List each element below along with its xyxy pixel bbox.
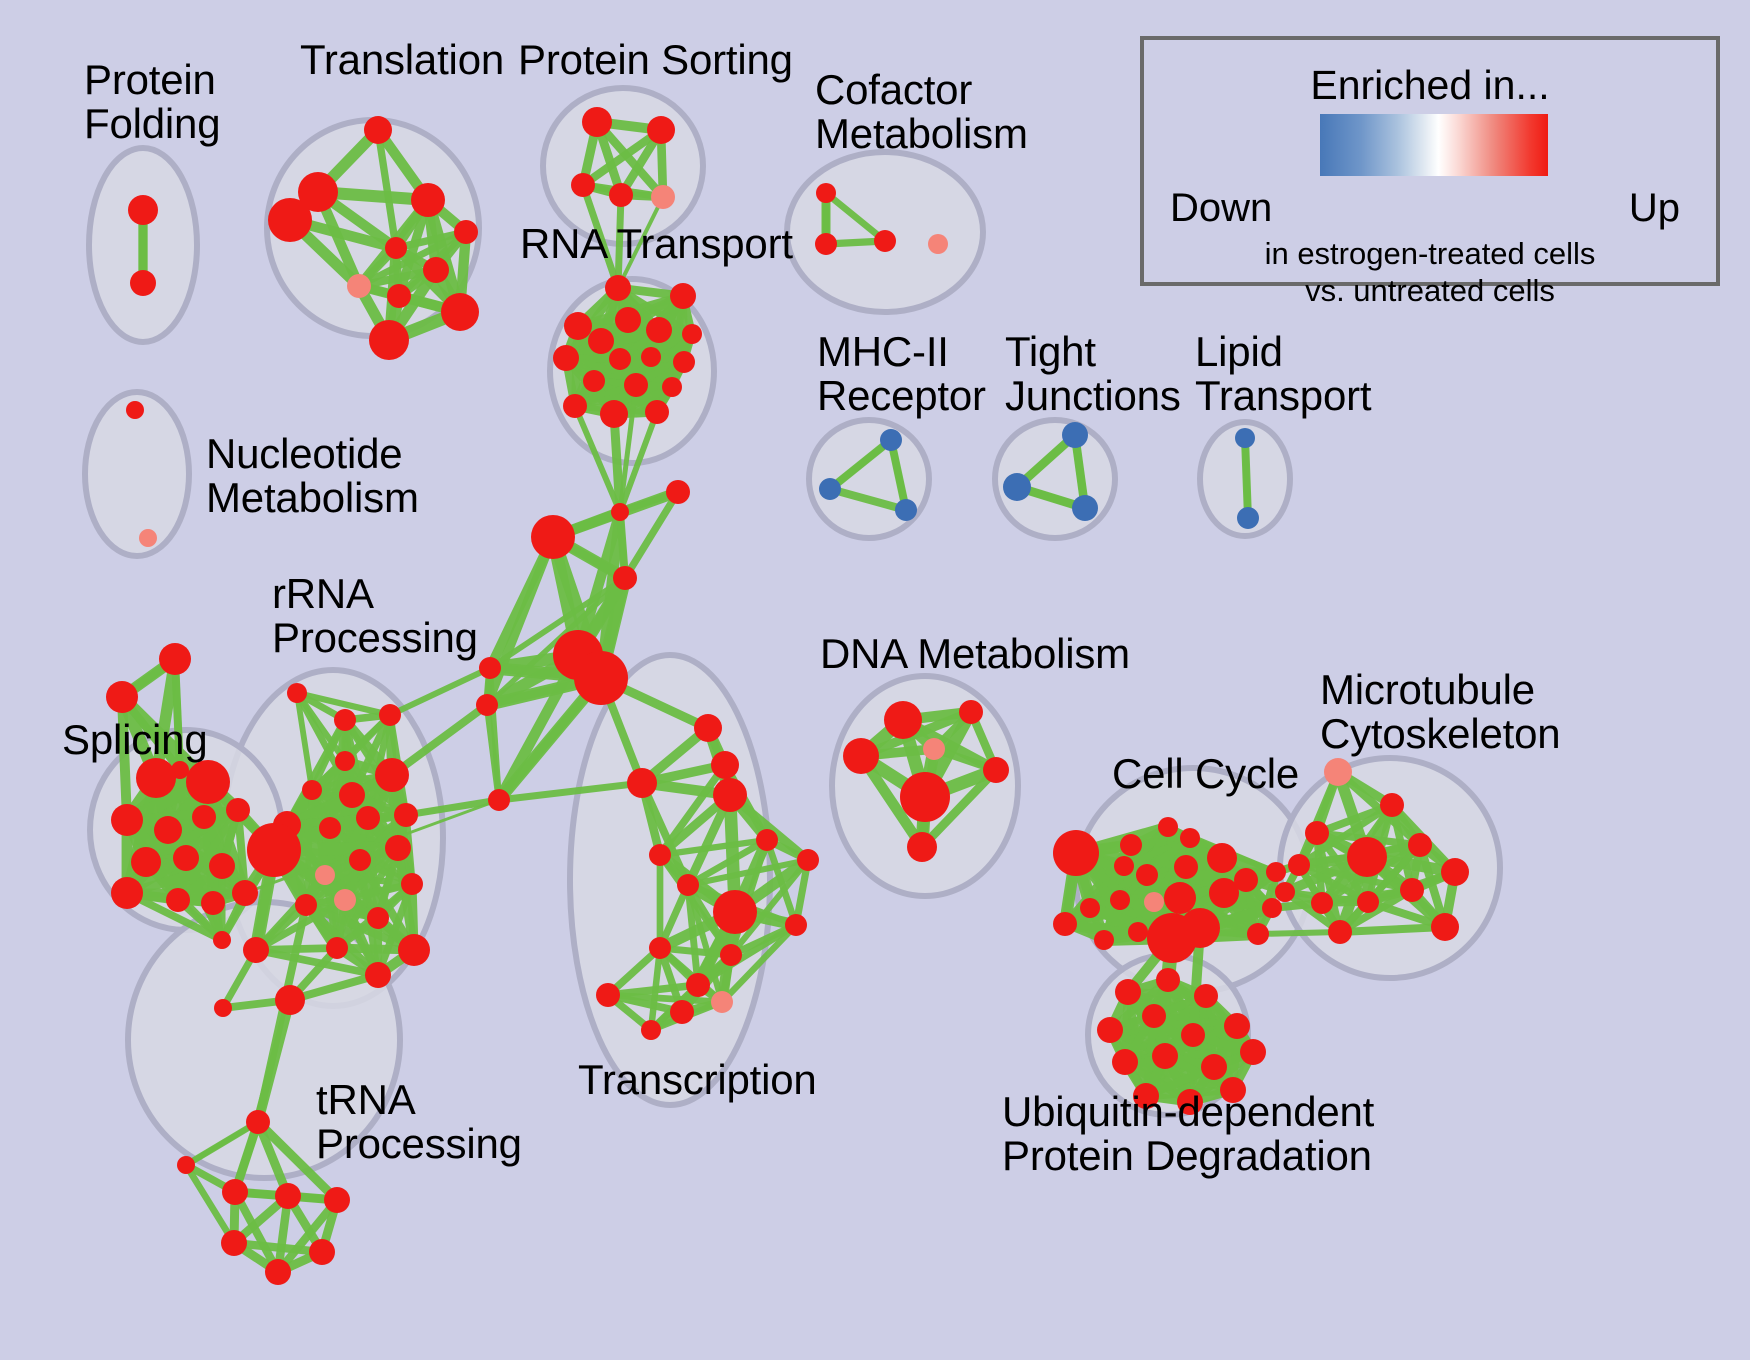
network-node-protein-sorting[interactable]: [571, 173, 595, 197]
legend-up-label: Up: [1629, 186, 1680, 231]
network-node-splicing[interactable]: [111, 804, 143, 836]
network-node-splicing[interactable]: [213, 931, 231, 949]
network-node-protein-sorting[interactable]: [609, 183, 633, 207]
network-node-cell-cycle[interactable]: [1136, 864, 1158, 886]
network-node-rna-transport[interactable]: [662, 377, 682, 397]
cluster-label-protein-folding: Protein Folding: [84, 58, 220, 145]
network-node-mhc-ii-receptor[interactable]: [880, 429, 902, 451]
network-node-mhc-ii-receptor[interactable]: [895, 499, 917, 521]
network-node-cell-cycle[interactable]: [1110, 890, 1130, 910]
network-node-rrna-processing[interactable]: [375, 758, 409, 792]
network-node-ubiquitin-protein-degradation[interactable]: [1156, 968, 1180, 992]
cluster-ellipse-transcription[interactable]: [570, 655, 770, 1105]
network-edge: [1258, 932, 1340, 934]
network-node-bridge[interactable]: [611, 503, 629, 521]
legend-subtitle: in estrogen-treated cells vs. untreated …: [1144, 236, 1716, 309]
cluster-label-dna-metabolism: DNA Metabolism: [820, 632, 1130, 676]
network-node-protein-sorting[interactable]: [651, 185, 675, 209]
network-node-trna-processing[interactable]: [309, 1239, 335, 1265]
network-node-microtubule-cytoskeleton[interactable]: [1380, 793, 1404, 817]
network-node-rrna-processing[interactable]: [349, 849, 371, 871]
network-node-rrna-processing[interactable]: [243, 937, 269, 963]
network-node-protein-sorting[interactable]: [582, 107, 612, 137]
network-node-splicing[interactable]: [201, 891, 225, 915]
network-node-cell-cycle[interactable]: [1174, 855, 1198, 879]
network-node-splicing[interactable]: [154, 816, 182, 844]
network-node-transcription[interactable]: [627, 768, 657, 798]
network-node-rrna-processing[interactable]: [356, 806, 380, 830]
network-node-bridge[interactable]: [574, 651, 628, 705]
network-node-mhc-ii-receptor[interactable]: [819, 478, 841, 500]
network-node-nucleotide-metabolism[interactable]: [126, 401, 144, 419]
network-node-splicing[interactable]: [159, 643, 191, 675]
network-node-trna-processing[interactable]: [221, 1230, 247, 1256]
legend-title: Enriched in...: [1144, 62, 1716, 109]
network-node-microtubule-cytoskeleton[interactable]: [1347, 837, 1387, 877]
network-edge: [1245, 438, 1248, 518]
cluster-label-protein-sorting: Protein Sorting: [518, 38, 793, 82]
network-node-tight-junctions[interactable]: [1003, 473, 1031, 501]
network-node-transcription[interactable]: [713, 890, 757, 934]
network-node-transcription[interactable]: [713, 778, 747, 812]
network-node-microtubule-cytoskeleton[interactable]: [1305, 821, 1329, 845]
network-node-rna-transport[interactable]: [609, 348, 631, 370]
cluster-label-rrna-processing: rRNA Processing: [272, 572, 478, 659]
network-node-rrna-processing[interactable]: [287, 683, 307, 703]
cluster-label-ubiquitin-protein-degradation: Ubiquitin-dependent Protein Degradation: [1002, 1090, 1374, 1177]
network-edge: [390, 668, 490, 715]
network-node-cell-cycle[interactable]: [1144, 892, 1164, 912]
cluster-label-microtubule-cytoskeleton: Microtubule Cytoskeleton: [1320, 668, 1560, 755]
network-node-translation[interactable]: [454, 220, 478, 244]
network-node-cell-cycle[interactable]: [1147, 913, 1197, 963]
network-node-trna-processing[interactable]: [275, 985, 305, 1015]
network-node-rna-transport[interactable]: [641, 347, 661, 367]
network-node-splicing[interactable]: [209, 853, 235, 879]
network-node-rrna-processing[interactable]: [379, 704, 401, 726]
cluster-label-nucleotide-metabolism: Nucleotide Metabolism: [206, 432, 419, 519]
network-node-rna-transport[interactable]: [646, 317, 672, 343]
network-node-dna-metabolism[interactable]: [983, 757, 1009, 783]
network-node-splicing[interactable]: [232, 880, 258, 906]
network-node-rrna-processing[interactable]: [335, 751, 355, 771]
network-node-transcription[interactable]: [649, 844, 671, 866]
network-node-ubiquitin-protein-degradation[interactable]: [1115, 979, 1141, 1005]
network-node-rna-transport[interactable]: [600, 400, 628, 428]
network-edge: [1340, 927, 1445, 932]
network-node-transcription[interactable]: [720, 944, 742, 966]
network-node-rna-transport[interactable]: [553, 345, 579, 371]
network-node-translation[interactable]: [385, 237, 407, 259]
network-node-cell-cycle[interactable]: [1247, 923, 1269, 945]
network-node-protein-sorting[interactable]: [647, 116, 675, 144]
network-node-rna-transport[interactable]: [645, 400, 669, 424]
network-node-rrna-processing[interactable]: [295, 894, 317, 916]
legend-subtitle-line1: in estrogen-treated cells: [1144, 236, 1716, 273]
network-node-rna-transport[interactable]: [563, 394, 587, 418]
network-node-transcription[interactable]: [694, 714, 722, 742]
network-node-bridge[interactable]: [531, 515, 575, 559]
network-node-rrna-processing[interactable]: [385, 835, 411, 861]
network-node-microtubule-cytoskeleton[interactable]: [1275, 882, 1295, 902]
network-node-trna-processing[interactable]: [265, 1259, 291, 1285]
network-node-ubiquitin-protein-degradation[interactable]: [1152, 1043, 1178, 1069]
network-node-rna-transport[interactable]: [624, 373, 648, 397]
network-node-dna-metabolism[interactable]: [884, 701, 922, 739]
network-node-translation[interactable]: [268, 198, 312, 242]
network-node-microtubule-cytoskeleton[interactable]: [1431, 913, 1459, 941]
network-node-bridge[interactable]: [488, 789, 510, 811]
network-node-bridge[interactable]: [613, 566, 637, 590]
network-node-rrna-processing[interactable]: [334, 889, 356, 911]
network-node-rrna-processing[interactable]: [398, 934, 430, 966]
network-node-rna-transport[interactable]: [673, 351, 695, 373]
network-node-trna-processing[interactable]: [177, 1156, 195, 1174]
network-node-microtubule-cytoskeleton[interactable]: [1400, 878, 1424, 902]
network-node-transcription[interactable]: [670, 1000, 694, 1024]
network-node-microtubule-cytoskeleton[interactable]: [1288, 854, 1310, 876]
cluster-label-lipid-transport: Lipid Transport: [1195, 330, 1371, 417]
network-diagram: Protein FoldingTranslationProtein Sortin…: [0, 0, 1750, 1360]
network-node-rrna-processing[interactable]: [315, 865, 335, 885]
network-node-rna-transport[interactable]: [588, 328, 614, 354]
network-node-ubiquitin-protein-degradation[interactable]: [1097, 1017, 1123, 1043]
network-node-transcription[interactable]: [711, 991, 733, 1013]
network-node-rrna-processing[interactable]: [326, 937, 348, 959]
network-node-rrna-processing[interactable]: [401, 873, 423, 895]
network-node-cell-cycle[interactable]: [1180, 828, 1200, 848]
network-node-rrna-processing[interactable]: [367, 907, 389, 929]
network-node-rrna-processing[interactable]: [319, 817, 341, 839]
network-node-tight-junctions[interactable]: [1072, 495, 1098, 521]
cluster-label-cell-cycle: Cell Cycle: [1112, 752, 1299, 796]
network-node-cell-cycle[interactable]: [1128, 922, 1148, 942]
network-node-cell-cycle[interactable]: [1207, 843, 1237, 873]
network-node-trna-processing[interactable]: [275, 1183, 301, 1209]
network-node-translation[interactable]: [441, 293, 479, 331]
network-node-protein-folding[interactable]: [128, 195, 158, 225]
network-node-translation[interactable]: [387, 284, 411, 308]
network-node-nucleotide-metabolism[interactable]: [139, 529, 157, 547]
network-node-lipid-transport[interactable]: [1237, 507, 1259, 529]
network-node-microtubule-cytoskeleton[interactable]: [1328, 920, 1352, 944]
network-node-rrna-processing[interactable]: [247, 823, 301, 877]
network-node-dna-metabolism[interactable]: [907, 832, 937, 862]
network-node-translation[interactable]: [423, 257, 449, 283]
network-node-transcription[interactable]: [596, 983, 620, 1007]
network-node-trna-processing[interactable]: [222, 1179, 248, 1205]
cluster-label-transcription: Transcription: [578, 1058, 817, 1102]
network-node-cell-cycle[interactable]: [1080, 898, 1100, 918]
cluster-label-rna-transport: RNA Transport: [520, 222, 793, 266]
network-node-dna-metabolism[interactable]: [923, 738, 945, 760]
network-node-ubiquitin-protein-degradation[interactable]: [1112, 1049, 1138, 1075]
network-node-transcription[interactable]: [785, 914, 807, 936]
network-node-transcription[interactable]: [641, 1020, 661, 1040]
network-node-dna-metabolism[interactable]: [843, 738, 879, 774]
network-node-trna-processing[interactable]: [324, 1187, 350, 1213]
network-node-splicing[interactable]: [111, 877, 143, 909]
network-node-microtubule-cytoskeleton[interactable]: [1311, 892, 1333, 914]
network-node-dna-metabolism[interactable]: [959, 700, 983, 724]
network-node-rrna-processing[interactable]: [302, 780, 322, 800]
legend-subtitle-line2: vs. untreated cells: [1144, 273, 1716, 310]
network-node-cell-cycle[interactable]: [1158, 817, 1178, 837]
network-node-rrna-processing[interactable]: [339, 782, 365, 808]
network-node-protein-folding[interactable]: [130, 270, 156, 296]
network-node-ubiquitin-protein-degradation[interactable]: [1194, 984, 1218, 1008]
network-node-splicing[interactable]: [136, 758, 176, 798]
network-node-splicing[interactable]: [106, 681, 138, 713]
network-node-translation[interactable]: [347, 274, 371, 298]
network-node-rna-transport[interactable]: [670, 283, 696, 309]
network-node-microtubule-cytoskeleton[interactable]: [1324, 758, 1352, 786]
network-node-transcription[interactable]: [677, 874, 699, 896]
network-node-ubiquitin-protein-degradation[interactable]: [1181, 1023, 1205, 1047]
network-node-cell-cycle[interactable]: [1234, 868, 1258, 892]
network-node-microtubule-cytoskeleton[interactable]: [1441, 858, 1469, 886]
network-node-bridge[interactable]: [666, 480, 690, 504]
cluster-label-splicing: Splicing: [62, 718, 207, 762]
network-node-ubiquitin-protein-degradation[interactable]: [1240, 1039, 1266, 1065]
network-node-transcription[interactable]: [686, 973, 710, 997]
network-node-bridge[interactable]: [479, 657, 501, 679]
legend-color-gradient: [1320, 114, 1548, 176]
legend-panel: Enriched in... Down Up in estrogen-treat…: [1140, 36, 1720, 286]
cluster-label-trna-processing: tRNA Processing: [316, 1078, 522, 1165]
network-node-rrna-processing[interactable]: [334, 709, 356, 731]
network-node-transcription[interactable]: [756, 829, 778, 851]
network-node-ubiquitin-protein-degradation[interactable]: [1224, 1013, 1250, 1039]
network-node-trna-processing[interactable]: [214, 999, 232, 1017]
network-node-splicing[interactable]: [166, 888, 190, 912]
network-node-splicing[interactable]: [131, 847, 161, 877]
network-node-cofactor-metabolism[interactable]: [928, 234, 948, 254]
network-node-transcription[interactable]: [649, 937, 671, 959]
network-node-rna-transport[interactable]: [564, 312, 592, 340]
network-node-cell-cycle[interactable]: [1053, 912, 1077, 936]
network-node-splicing[interactable]: [173, 845, 199, 871]
cluster-label-tight-junctions: Tight Junctions: [1005, 330, 1181, 417]
network-node-tight-junctions[interactable]: [1062, 422, 1088, 448]
network-node-splicing[interactable]: [192, 805, 216, 829]
network-node-cell-cycle[interactable]: [1094, 930, 1114, 950]
network-node-rrna-processing[interactable]: [394, 803, 418, 827]
cluster-label-mhc-ii-receptor: MHC-II Receptor: [817, 330, 986, 417]
network-node-translation[interactable]: [411, 183, 445, 217]
network-node-cofactor-metabolism[interactable]: [815, 233, 837, 255]
legend-down-label: Down: [1170, 186, 1272, 231]
network-node-trna-processing[interactable]: [246, 1110, 270, 1134]
network-node-translation[interactable]: [369, 320, 409, 360]
network-node-cell-cycle[interactable]: [1266, 862, 1286, 882]
network-node-cell-cycle[interactable]: [1164, 882, 1196, 914]
network-node-cofactor-metabolism[interactable]: [874, 230, 896, 252]
network-node-cell-cycle[interactable]: [1262, 898, 1282, 918]
network-node-rna-transport[interactable]: [583, 370, 605, 392]
network-node-splicing[interactable]: [226, 798, 250, 822]
network-node-microtubule-cytoskeleton[interactable]: [1357, 891, 1379, 913]
network-node-ubiquitin-protein-degradation[interactable]: [1142, 1004, 1166, 1028]
network-node-dna-metabolism[interactable]: [900, 772, 950, 822]
network-node-rna-transport[interactable]: [682, 324, 702, 344]
network-node-cell-cycle[interactable]: [1114, 856, 1134, 876]
cluster-label-translation: Translation: [300, 38, 504, 82]
network-node-rna-transport[interactable]: [615, 307, 641, 333]
network-node-ubiquitin-protein-degradation[interactable]: [1201, 1054, 1227, 1080]
cluster-label-cofactor-metabolism: Cofactor Metabolism: [815, 68, 1028, 155]
network-node-rrna-processing[interactable]: [365, 962, 391, 988]
network-node-lipid-transport[interactable]: [1235, 428, 1255, 448]
network-node-cell-cycle[interactable]: [1120, 834, 1142, 856]
network-node-translation[interactable]: [364, 116, 392, 144]
network-node-transcription[interactable]: [797, 849, 819, 871]
network-node-microtubule-cytoskeleton[interactable]: [1408, 833, 1432, 857]
network-node-rna-transport[interactable]: [605, 275, 631, 301]
network-node-transcription[interactable]: [711, 751, 739, 779]
network-node-cofactor-metabolism[interactable]: [816, 183, 836, 203]
network-node-cell-cycle[interactable]: [1053, 830, 1099, 876]
network-node-splicing[interactable]: [186, 760, 230, 804]
network-node-bridge[interactable]: [476, 694, 498, 716]
